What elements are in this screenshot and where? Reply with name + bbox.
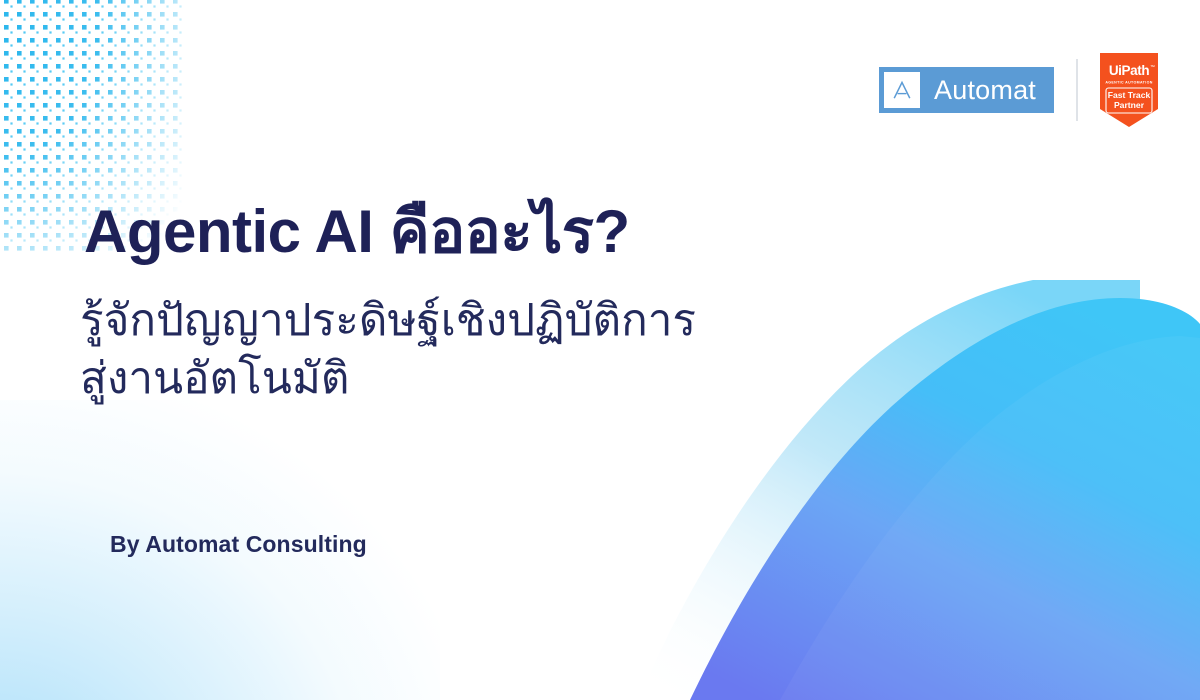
svg-text:Fast Track: Fast Track xyxy=(1108,90,1151,100)
svg-text:Partner: Partner xyxy=(1114,100,1145,110)
svg-text:™: ™ xyxy=(1150,65,1155,71)
page-title: Agentic AI คืออะไร? xyxy=(84,202,630,262)
title-slide: Automat UiPath ™ AGENTIC AUTOMATION Fast… xyxy=(0,0,1200,700)
byline: By Automat Consulting xyxy=(110,531,367,558)
automat-logo[interactable]: Automat xyxy=(879,67,1054,113)
page-subtitle-line-1: รู้จักปัญญาประดิษฐ์เชิงปฏิบัติการ xyxy=(80,292,696,350)
svg-text:AGENTIC AUTOMATION: AGENTIC AUTOMATION xyxy=(1105,81,1152,85)
uipath-fast-track-partner-badge[interactable]: UiPath ™ AGENTIC AUTOMATION Fast Track P… xyxy=(1100,53,1158,127)
logo-divider xyxy=(1076,59,1078,121)
automat-wordmark: Automat xyxy=(934,77,1036,104)
automat-a-mark-icon xyxy=(884,72,920,108)
svg-text:UiPath: UiPath xyxy=(1109,63,1150,78)
logo-lockup: Automat UiPath ™ AGENTIC AUTOMATION Fast… xyxy=(879,54,1158,126)
page-subtitle: รู้จักปัญญาประดิษฐ์เชิงปฏิบัติการ สู่งาน… xyxy=(80,292,696,408)
page-subtitle-line-2: สู่งานอัตโนมัติ xyxy=(80,350,696,408)
